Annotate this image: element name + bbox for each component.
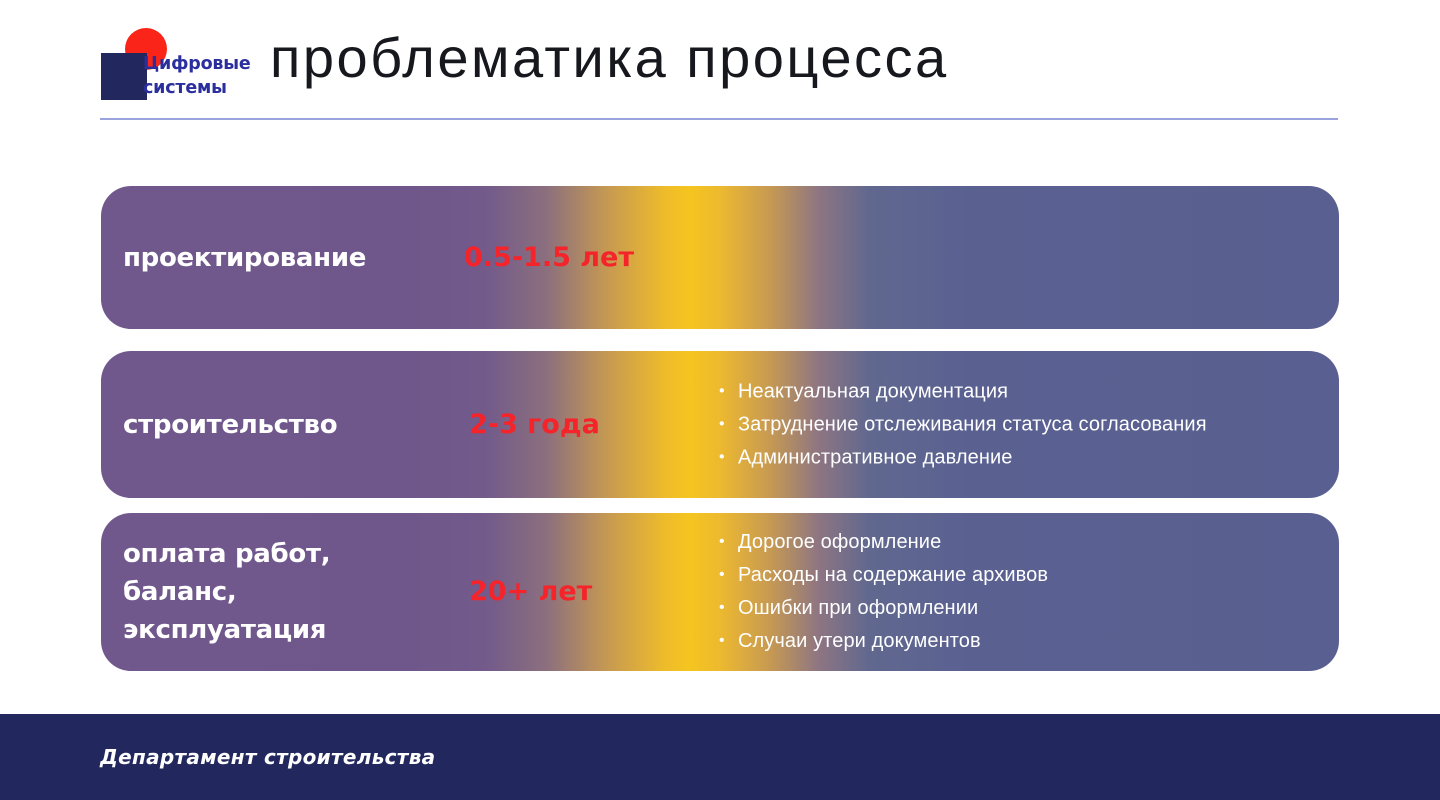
logo-wordmark: Цифровые системы <box>143 52 273 100</box>
stage-issue-list: Неактуальная документация Затруднение от… <box>716 375 1323 474</box>
stage-duration: 0.5-1.5 лет <box>464 241 634 275</box>
company-logo: Цифровые системы <box>99 26 271 106</box>
stage-row-projecting: проектирование 0.5-1.5 лет <box>101 186 1339 329</box>
stage-issue-list: Дорогое оформление Расходы на содержание… <box>716 526 1323 658</box>
stage-label: строительство <box>123 406 337 444</box>
stage-row-content: строительство 2-3 года Неактуальная доку… <box>101 351 1339 498</box>
stage-duration: 2-3 года <box>469 408 600 442</box>
stage-row-content: проектирование 0.5-1.5 лет <box>101 186 1339 329</box>
logo-wordmark-line-2: системы <box>143 76 273 100</box>
slide-footer: Департамент строительства <box>0 714 1440 800</box>
list-item: Затруднение отслеживания статуса согласо… <box>716 408 1323 441</box>
list-item: Неактуальная документация <box>716 375 1323 408</box>
footer-department-label: Департамент строительства <box>100 745 435 769</box>
header-divider <box>100 118 1338 120</box>
slide-header: Цифровые системы проблематика процесса <box>0 0 1440 120</box>
process-stage-list: проектирование 0.5-1.5 лет строительство… <box>101 186 1339 671</box>
stage-row-payment-balance-operation: оплата работ, баланс, эксплуатация 20+ л… <box>101 513 1339 671</box>
stage-row-construction: строительство 2-3 года Неактуальная доку… <box>101 351 1339 498</box>
stage-row-content: оплата работ, баланс, эксплуатация 20+ л… <box>101 513 1339 671</box>
page-title: проблематика процесса <box>270 22 949 94</box>
list-item: Расходы на содержание архивов <box>716 559 1323 592</box>
list-item: Дорогое оформление <box>716 526 1323 559</box>
stage-label: проектирование <box>123 239 366 277</box>
stage-label: оплата работ, баланс, эксплуатация <box>123 535 330 649</box>
list-item: Ошибки при оформлении <box>716 592 1323 625</box>
logo-navy-square-icon <box>101 53 147 100</box>
stage-duration: 20+ лет <box>469 575 592 609</box>
list-item: Административное давление <box>716 441 1323 474</box>
logo-wordmark-line-1: Цифровые <box>143 52 273 76</box>
slide: Цифровые системы проблематика процесса п… <box>0 0 1440 800</box>
list-item: Случаи утери документов <box>716 625 1323 658</box>
